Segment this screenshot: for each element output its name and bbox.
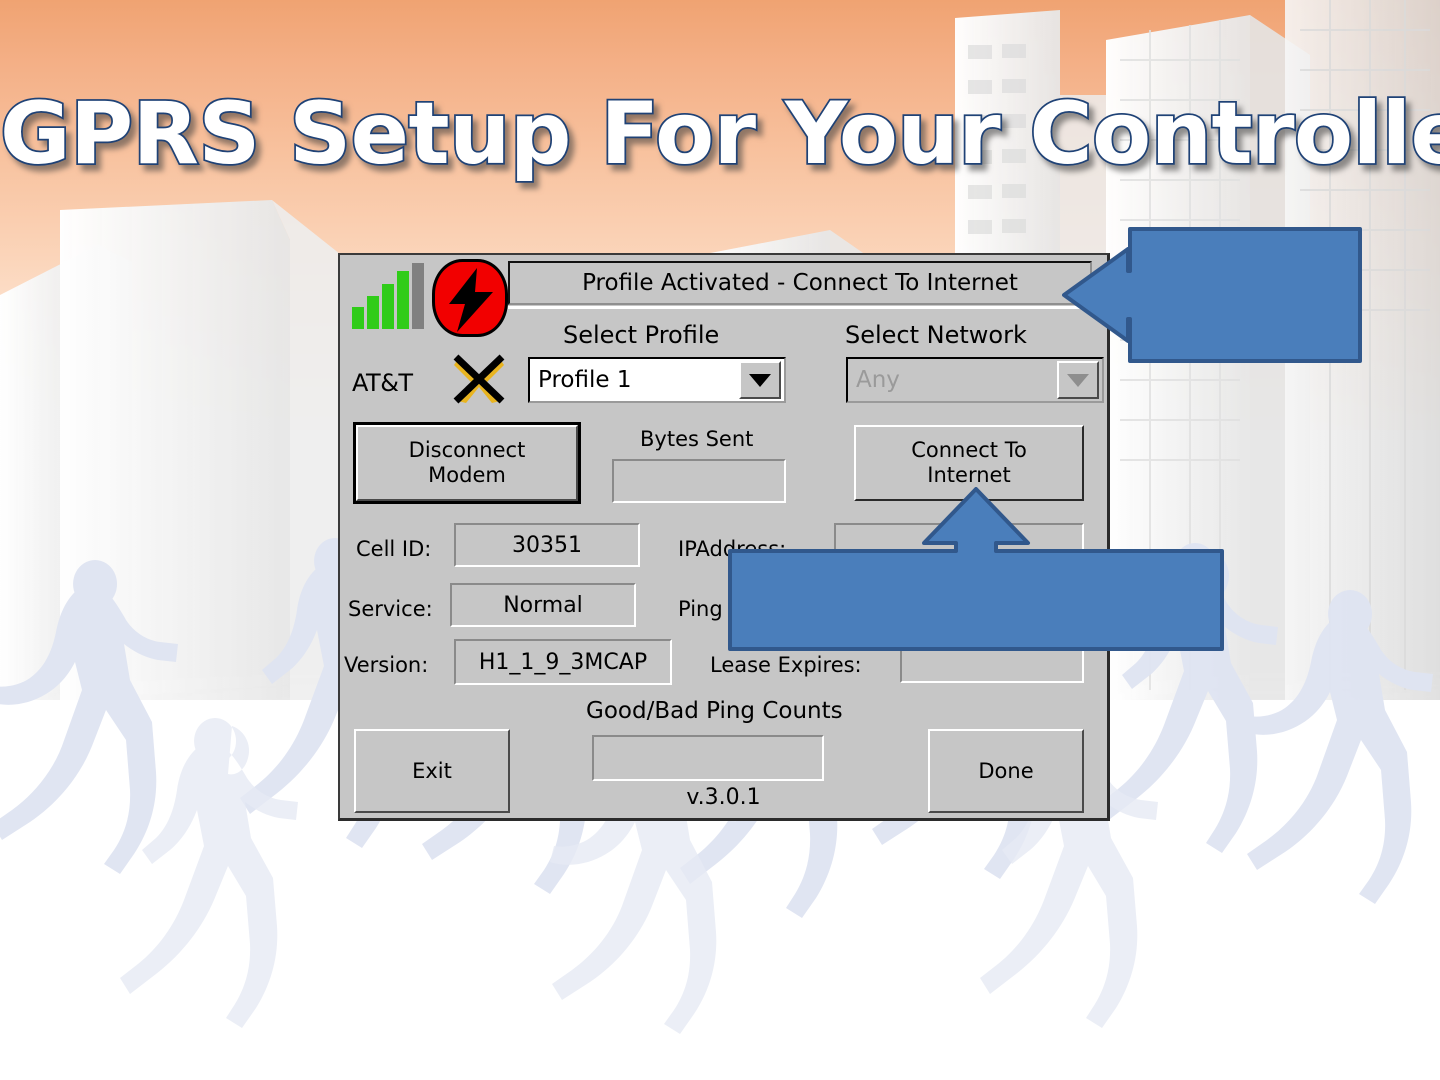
service-field: Normal (450, 583, 636, 627)
profile-value: Profile 1 (530, 367, 739, 393)
disconnect-modem-line2: Modem (428, 463, 506, 487)
callout-arrow-top (1062, 227, 1362, 363)
page-title: GPRS Setup For Your Controller (0, 86, 1440, 182)
network-value: Any (848, 367, 1057, 393)
chevron-down-icon[interactable] (739, 361, 781, 399)
service-label: Service: (348, 597, 433, 621)
callout-arrow-bottom-text (728, 547, 1224, 651)
ping-counts-field (592, 735, 824, 781)
signal-bars-icon (350, 263, 428, 329)
carrier-label: AT&T (352, 369, 413, 397)
status-bar: Profile Activated - Connect To Internet (508, 261, 1092, 305)
ping-label: Ping (678, 597, 723, 621)
slide-canvas: GPRS Setup For Your Controller Profile A… (0, 0, 1440, 1080)
app-version-label: v.3.0.1 (340, 785, 1107, 810)
callout-arrow-top-text (1062, 227, 1362, 363)
disconnect-modem-line1: Disconnect (409, 438, 526, 462)
select-network-dropdown[interactable]: Any (846, 357, 1104, 403)
version-field: H1_1_9_3MCAP (454, 639, 672, 685)
no-service-x-icon (450, 353, 508, 405)
bytes-sent-label: Bytes Sent (640, 427, 753, 451)
disconnect-modem-button[interactable]: Disconnect Modem (356, 425, 578, 501)
ping-counts-label: Good/Bad Ping Counts (586, 699, 843, 723)
callout-arrow-bottom (728, 487, 1224, 651)
cell-id-label: Cell ID: (356, 537, 431, 561)
cell-id-field: 30351 (454, 523, 640, 567)
select-profile-dropdown[interactable]: Profile 1 (528, 357, 786, 403)
connect-internet-line2: Internet (927, 463, 1010, 487)
select-profile-label: Select Profile (563, 323, 719, 347)
lease-expires-label: Lease Expires: (710, 653, 862, 677)
chevron-down-icon-disabled (1057, 361, 1099, 399)
version-label: Version: (344, 653, 428, 677)
connect-internet-line1: Connect To (911, 438, 1027, 462)
select-network-label: Select Network (845, 323, 1027, 347)
modem-power-icon (432, 259, 508, 337)
